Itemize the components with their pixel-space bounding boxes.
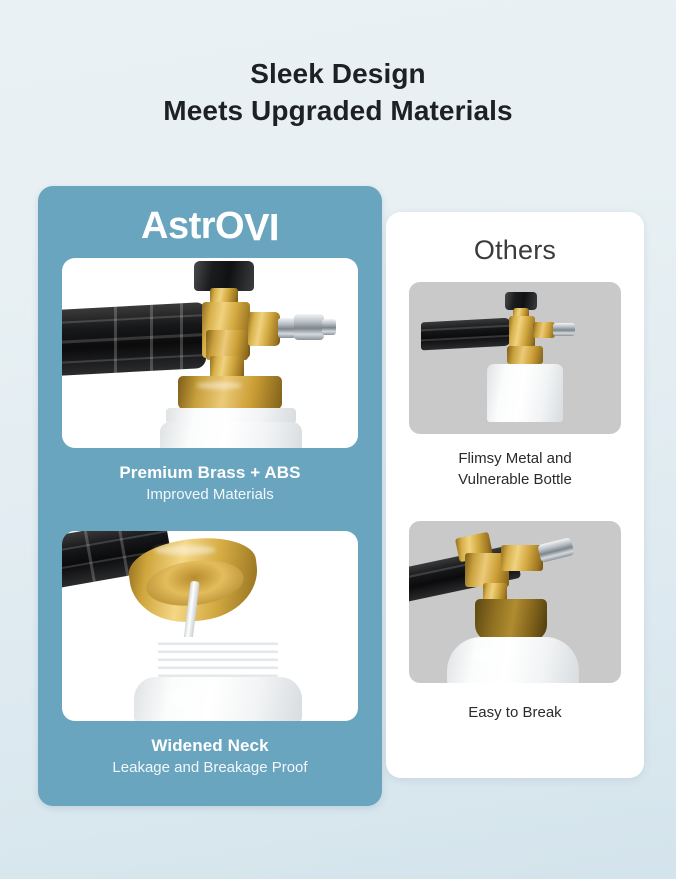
brand-photo-card-2 bbox=[62, 531, 358, 721]
others-photo-card-1 bbox=[409, 282, 621, 434]
black-adjustment-knob bbox=[194, 261, 254, 291]
brass-bottle-collar bbox=[178, 376, 282, 410]
generic-black-nozzle bbox=[421, 318, 511, 351]
chrome-quick-connect-tip bbox=[322, 319, 336, 335]
others-chrome-quick-connect bbox=[537, 537, 574, 563]
brand-caption-1: Premium Brass + ABS Improved Materials bbox=[38, 462, 382, 505]
generic-chrome-quick-connect bbox=[553, 323, 575, 336]
brand-caption-2-subtitle: Leakage and Breakage Proof bbox=[38, 757, 382, 778]
brass-cap-highlight bbox=[154, 545, 216, 555]
others-panel: Others Flimsy Metal and Vulnerable Bottl… bbox=[386, 212, 644, 778]
white-bottle-shoulder bbox=[134, 677, 302, 721]
generic-brass-body bbox=[509, 316, 535, 348]
black-spray-nozzle bbox=[62, 302, 206, 376]
generic-white-bottle bbox=[487, 364, 563, 422]
others-caption-1: Flimsy Metal and Vulnerable Bottle bbox=[386, 448, 644, 490]
page-title-line-1: Sleek Design bbox=[0, 55, 676, 92]
others-caption-1-line-2: Vulnerable Bottle bbox=[386, 469, 644, 490]
others-caption-1-line-1: Flimsy Metal and bbox=[386, 448, 644, 469]
others-caption-2-line-1: Easy to Break bbox=[386, 702, 644, 723]
comparison-area: AstrOΛI bbox=[0, 186, 676, 811]
page-title: Sleek Design Meets Upgraded Materials bbox=[0, 55, 676, 129]
others-caption-2: Easy to Break bbox=[386, 702, 644, 723]
page-title-line-2: Meets Upgraded Materials bbox=[0, 92, 676, 129]
brass-outlet-barrel bbox=[248, 312, 280, 346]
worn-brass-bottle-collar bbox=[475, 599, 547, 641]
generic-brass-tee bbox=[533, 322, 555, 338]
thin-brass-neck-illustration bbox=[409, 521, 621, 683]
generic-brass-collar bbox=[507, 346, 543, 364]
brand-photo-card-1 bbox=[62, 258, 358, 448]
chrome-quick-connect-sleeve bbox=[294, 314, 324, 340]
brand-caption-2: Widened Neck Leakage and Breakage Proof bbox=[38, 735, 382, 778]
bottle-neck-threads bbox=[158, 637, 278, 681]
dark-brass-tee bbox=[501, 545, 543, 571]
brand-panel-astroai: AstrOΛI bbox=[38, 186, 382, 806]
astroai-logo-wordmark: AstrO bbox=[141, 205, 244, 247]
generic-foam-cannon-illustration bbox=[409, 282, 621, 434]
foam-cannon-illustration bbox=[62, 258, 358, 448]
white-foam-bottle-body bbox=[160, 422, 302, 448]
astroai-logo: AstrOΛI bbox=[38, 204, 382, 248]
others-heading: Others bbox=[386, 234, 644, 267]
others-photo-card-2 bbox=[409, 521, 621, 683]
widened-neck-illustration bbox=[62, 531, 358, 721]
brand-caption-1-subtitle: Improved Materials bbox=[38, 484, 382, 505]
others-white-bottle bbox=[447, 637, 579, 683]
brand-caption-2-title: Widened Neck bbox=[38, 735, 382, 757]
brand-caption-1-title: Premium Brass + ABS bbox=[38, 462, 382, 484]
astroai-logo-ai-mark: ΛI bbox=[244, 204, 279, 248]
